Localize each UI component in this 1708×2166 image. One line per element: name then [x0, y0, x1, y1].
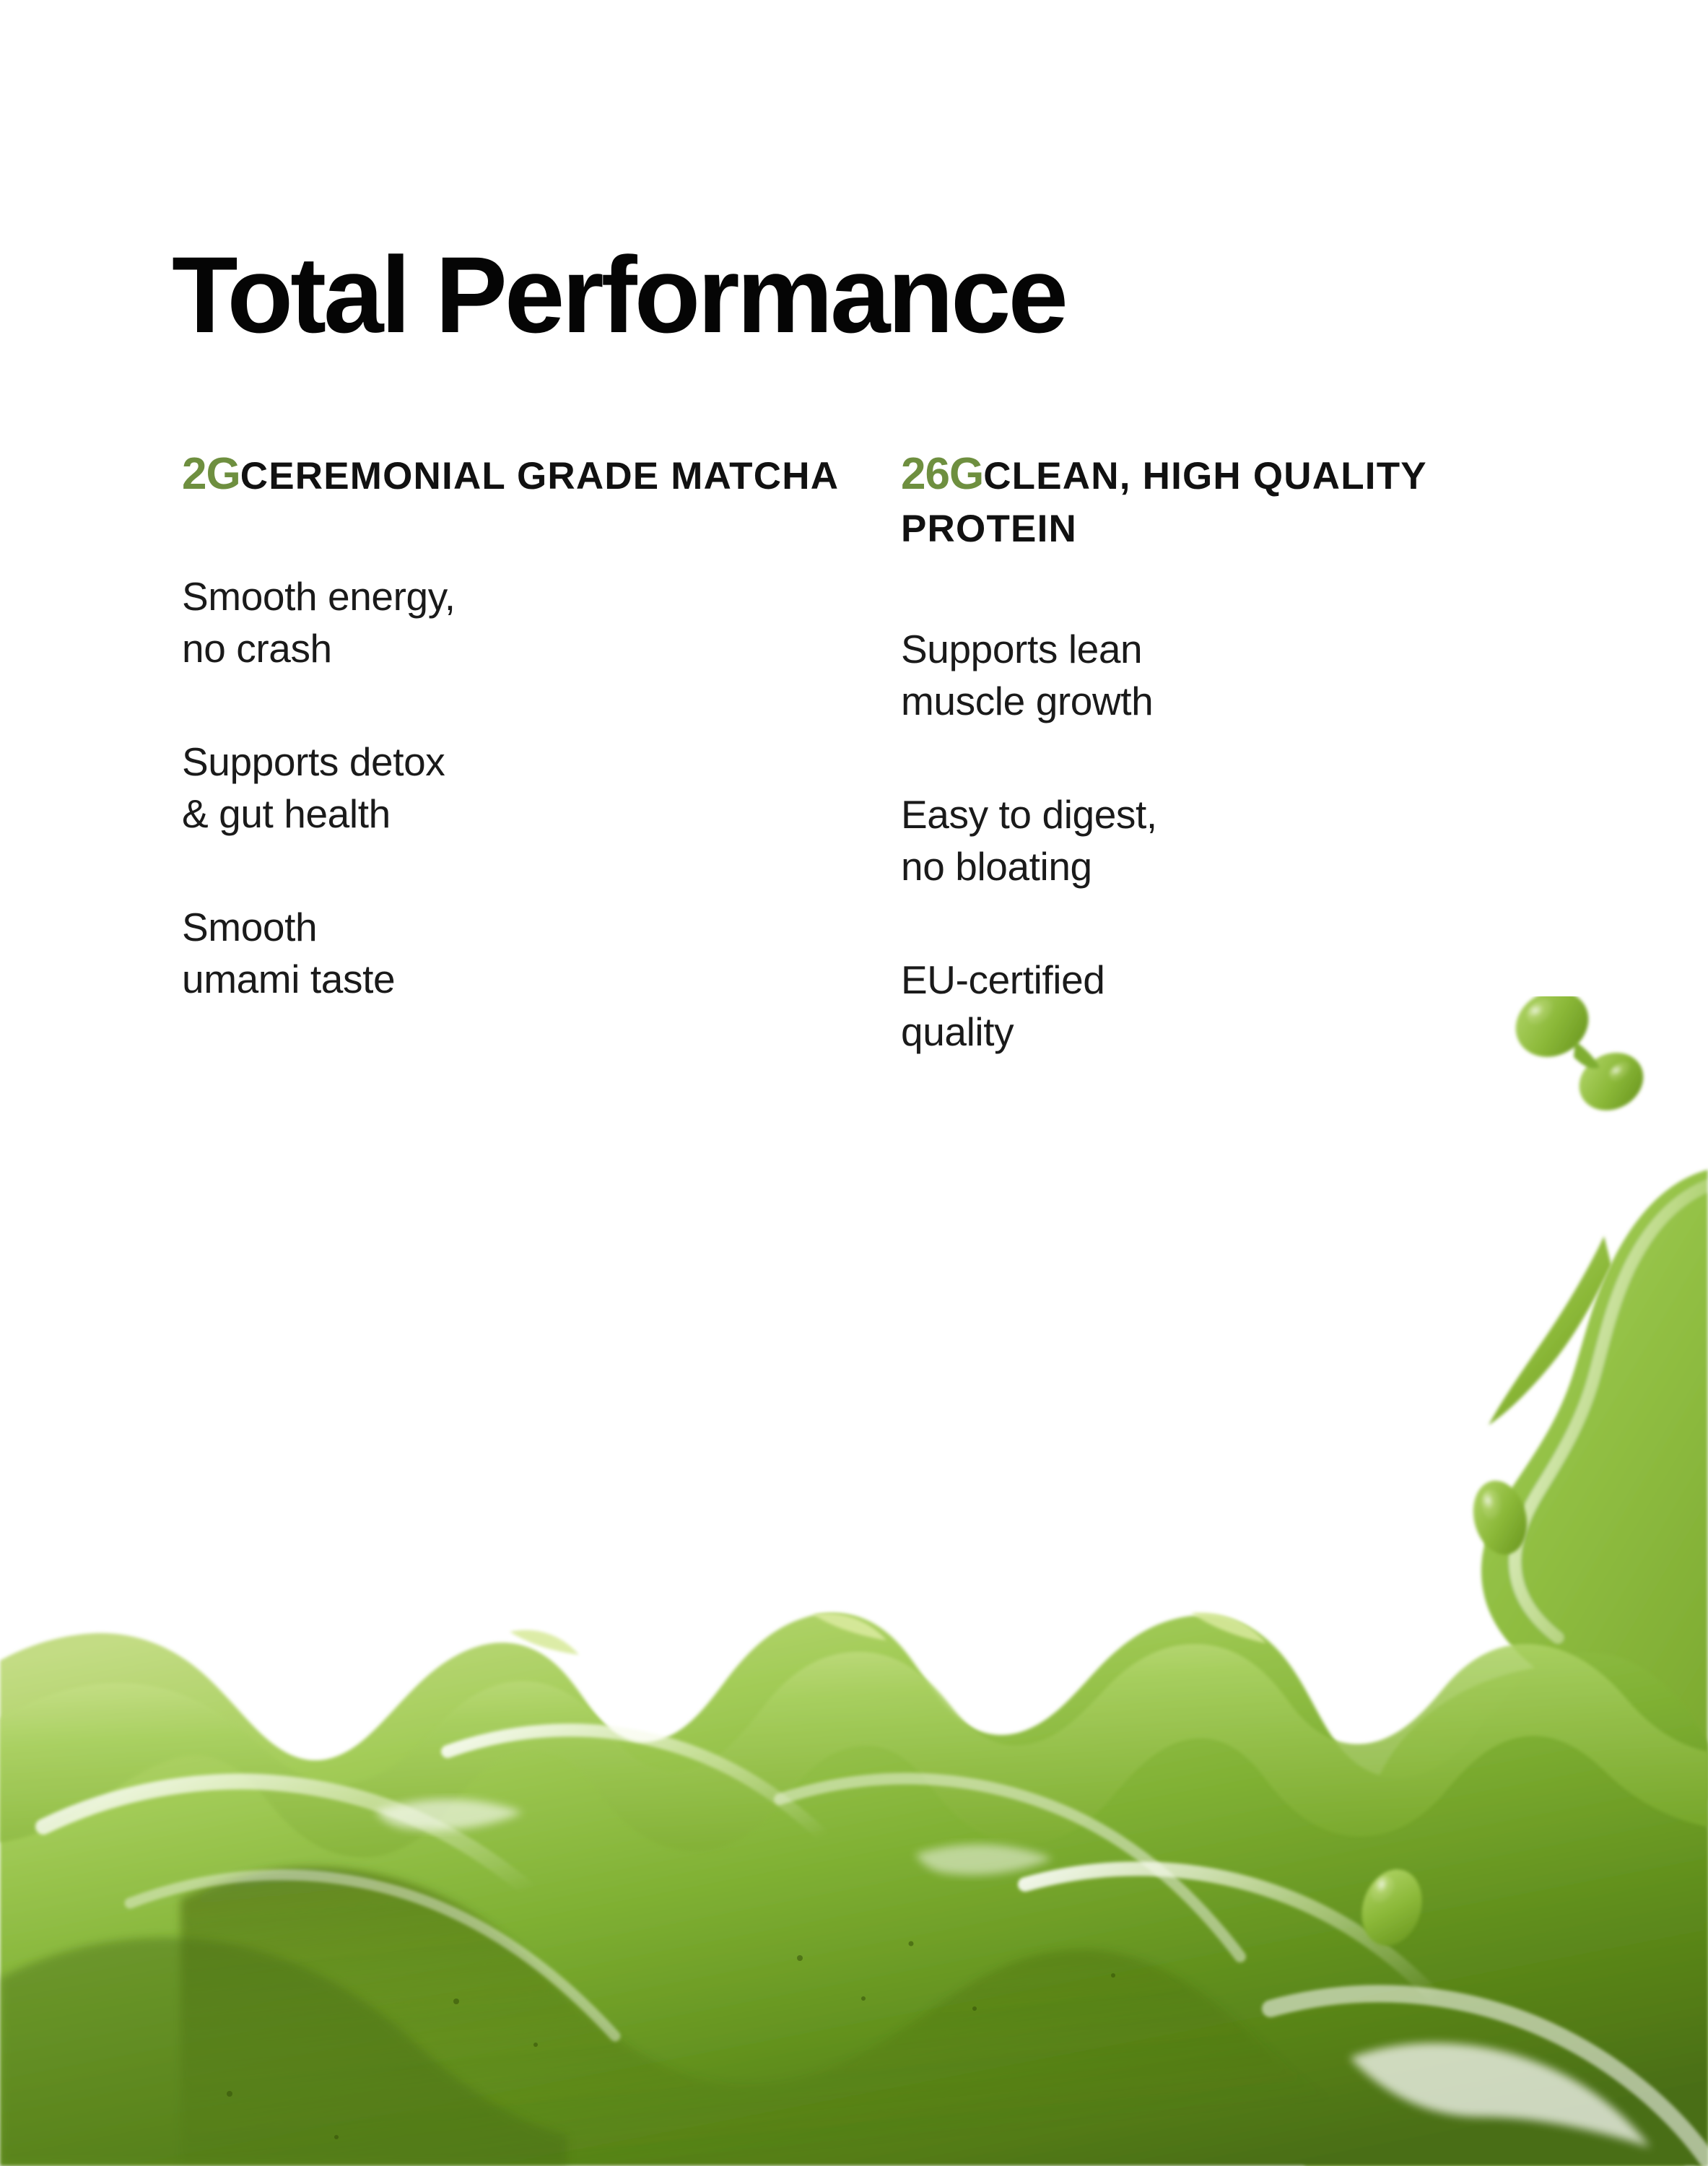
matcha-splash-image [0, 996, 1708, 2166]
benefit-list-protein: Supports lean muscle growth Easy to dige… [901, 624, 1608, 1058]
stat-heading-protein: 26GCLEAN, HIGH QUALITY PROTEIN [901, 448, 1608, 553]
splash-spike [1489, 1236, 1611, 1425]
benefit-list-matcha: Smooth energy, no crash Supports detox &… [182, 571, 875, 1005]
splash-main-wave [0, 1612, 1708, 2166]
benefit-item: Supports lean muscle growth [901, 624, 1608, 727]
stat-amount-protein: 26G [901, 449, 983, 499]
stat-amount-matcha: 2G [182, 449, 240, 499]
poster-canvas: Total Performance 2GCEREMONIAL GRADE MAT… [0, 0, 1708, 2166]
benefit-item: EU-certified quality [901, 954, 1608, 1058]
page-title: Total Performance [172, 240, 1066, 349]
splash-droplet-small [1352, 1861, 1431, 1953]
column-protein: 26GCLEAN, HIGH QUALITY PROTEIN Supports … [901, 448, 1608, 1058]
benefit-item: Smooth umami taste [182, 902, 875, 1005]
column-matcha: 2GCEREMONIAL GRADE MATCHA Smooth energy,… [182, 448, 875, 1005]
stat-label-matcha: CEREMONIAL GRADE MATCHA [240, 455, 839, 497]
benefit-item: Supports detox & gut health [182, 736, 875, 840]
matcha-splash-illustration [0, 996, 1708, 2166]
splash-droplet-bud [1465, 1475, 1534, 1560]
benefit-item: Easy to digest, no bloating [901, 789, 1608, 892]
matcha-specks [227, 1941, 1115, 2140]
stat-heading-matcha: 2GCEREMONIAL GRADE MATCHA [182, 448, 875, 500]
benefit-item: Smooth energy, no crash [182, 571, 875, 674]
splash-right-plume [1291, 1170, 1708, 2166]
